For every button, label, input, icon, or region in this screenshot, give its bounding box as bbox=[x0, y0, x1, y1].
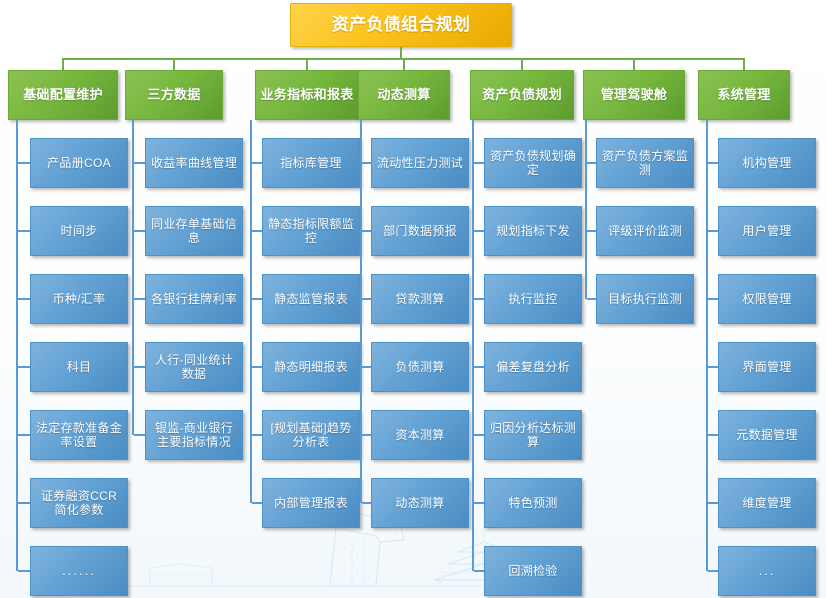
category-drop-connector-business-indicators-reports bbox=[306, 58, 308, 70]
leaf-connector-dynamic-measurement-5 bbox=[362, 502, 371, 504]
leaf-connector-system-management-3 bbox=[708, 366, 718, 368]
leaf-connector-third-party-data-2 bbox=[134, 298, 145, 300]
category-node-management-cockpit-label: 管理驾驶舱 bbox=[588, 87, 680, 102]
leaf-node-management-cockpit-2[interactable]: 目标执行监测 bbox=[596, 274, 694, 324]
leaf-node-base-config-maintenance-6-label: ...... bbox=[35, 563, 123, 578]
leaf-node-business-indicators-reports-5-label: 内部管理报表 bbox=[267, 496, 355, 510]
leaf-connector-dynamic-measurement-1 bbox=[362, 230, 371, 232]
leaf-node-system-management-4[interactable]: 元数据管理 bbox=[718, 410, 816, 460]
category-drop-connector-third-party-data bbox=[173, 58, 175, 70]
leaf-node-asset-liability-planning-0-label: 资产负债规划确定 bbox=[489, 149, 577, 177]
leaf-node-business-indicators-reports-0-label: 指标库管理 bbox=[267, 156, 355, 170]
leaf-node-system-management-5-label: 维度管理 bbox=[723, 496, 811, 510]
category-node-system-management-label: 系统管理 bbox=[703, 87, 785, 102]
leaf-connector-dynamic-measurement-0 bbox=[362, 162, 371, 164]
leaf-connector-asset-liability-planning-4 bbox=[474, 434, 484, 436]
leaf-node-system-management-2[interactable]: 权限管理 bbox=[718, 274, 816, 324]
leaf-node-third-party-data-2-label: 各银行挂牌利率 bbox=[150, 292, 238, 306]
leaf-node-asset-liability-planning-1[interactable]: 规划指标下发 bbox=[484, 206, 582, 256]
leaf-connector-system-management-1 bbox=[708, 230, 718, 232]
leaf-node-dynamic-measurement-3-label: 负债测算 bbox=[376, 360, 464, 374]
leaf-node-base-config-maintenance-2[interactable]: 币种/汇率 bbox=[30, 274, 128, 324]
leaf-node-base-config-maintenance-5[interactable]: 证券融资CCR简化参数 bbox=[30, 478, 128, 528]
category-node-business-indicators-reports-label: 业务指标和报表 bbox=[260, 87, 354, 102]
leaf-connector-asset-liability-planning-5 bbox=[474, 502, 484, 504]
leaf-node-asset-liability-planning-5-label: 特色预测 bbox=[489, 496, 577, 510]
leaf-connector-base-config-maintenance-5 bbox=[18, 502, 30, 504]
leaf-node-asset-liability-planning-5[interactable]: 特色预测 bbox=[484, 478, 582, 528]
leaf-node-third-party-data-2[interactable]: 各银行挂牌利率 bbox=[145, 274, 243, 324]
category-drop-connector-system-management bbox=[743, 58, 745, 70]
leaf-node-management-cockpit-1[interactable]: 评级评价监测 bbox=[596, 206, 694, 256]
leaf-node-dynamic-measurement-4-label: 资本测算 bbox=[376, 428, 464, 442]
leaf-node-base-config-maintenance-1[interactable]: 时间步 bbox=[30, 206, 128, 256]
leaf-node-asset-liability-planning-4[interactable]: 归因分析达标测算 bbox=[484, 410, 582, 460]
leaf-connector-asset-liability-planning-6 bbox=[474, 570, 484, 572]
category-node-management-cockpit[interactable]: 管理驾驶舱 bbox=[583, 70, 685, 120]
leaf-node-system-management-4-label: 元数据管理 bbox=[723, 428, 811, 442]
leaf-node-base-config-maintenance-0-label: 产品册COA bbox=[35, 156, 123, 170]
leaf-node-base-config-maintenance-1-label: 时间步 bbox=[35, 224, 123, 238]
leaf-connector-dynamic-measurement-2 bbox=[362, 298, 371, 300]
root-node-asset-liability-portfolio-planning[interactable]: 资产负债组合规划 bbox=[290, 3, 512, 47]
category-node-business-indicators-reports[interactable]: 业务指标和报表 bbox=[255, 70, 359, 120]
leaf-node-dynamic-measurement-2-label: 贷款测算 bbox=[376, 292, 464, 306]
leaf-node-business-indicators-reports-1[interactable]: 静态指标限额监控 bbox=[262, 206, 360, 256]
leaf-node-dynamic-measurement-5-label: 动态测算 bbox=[376, 496, 464, 510]
leaf-connector-management-cockpit-1 bbox=[587, 230, 596, 232]
leaf-node-business-indicators-reports-1-label: 静态指标限额监控 bbox=[267, 217, 355, 245]
leaf-node-system-management-3-label: 界面管理 bbox=[723, 360, 811, 374]
leaf-connector-asset-liability-planning-2 bbox=[474, 298, 484, 300]
leaf-node-system-management-6-label: ... bbox=[723, 563, 811, 578]
leaf-node-base-config-maintenance-3-label: 科目 bbox=[35, 360, 123, 374]
leaf-node-dynamic-measurement-3[interactable]: 负债测算 bbox=[371, 342, 469, 392]
leaf-node-system-management-0[interactable]: 机构管理 bbox=[718, 138, 816, 188]
leaf-connector-business-indicators-reports-2 bbox=[252, 298, 262, 300]
leaf-node-asset-liability-planning-3[interactable]: 偏差复盘分析 bbox=[484, 342, 582, 392]
leaf-node-third-party-data-3-label: 人行-同业统计数据 bbox=[150, 353, 238, 381]
leaf-node-business-indicators-reports-2-label: 静态监管报表 bbox=[267, 292, 355, 306]
leaf-connector-system-management-2 bbox=[708, 298, 718, 300]
leaf-node-business-indicators-reports-3-label: 静态明细报表 bbox=[267, 360, 355, 374]
category-node-base-config-maintenance[interactable]: 基础配置维护 bbox=[8, 70, 118, 120]
category-node-base-config-maintenance-label: 基础配置维护 bbox=[13, 87, 113, 102]
leaf-node-base-config-maintenance-5-label: 证券融资CCR简化参数 bbox=[35, 489, 123, 517]
leaf-node-third-party-data-1-label: 同业存单基础信息 bbox=[150, 217, 238, 245]
spine-connector-third-party-data bbox=[132, 120, 134, 435]
leaf-node-business-indicators-reports-5[interactable]: 内部管理报表 bbox=[262, 478, 360, 528]
leaf-node-asset-liability-planning-4-label: 归因分析达标测算 bbox=[489, 421, 577, 449]
leaf-node-business-indicators-reports-4[interactable]: [规划基础]趋势分析表 bbox=[262, 410, 360, 460]
leaf-node-base-config-maintenance-4-label: 法定存款准备金率设置 bbox=[35, 421, 123, 449]
leaf-connector-system-management-6 bbox=[708, 570, 718, 572]
leaf-connector-third-party-data-3 bbox=[134, 366, 145, 368]
leaf-connector-dynamic-measurement-3 bbox=[362, 366, 371, 368]
leaf-connector-third-party-data-4 bbox=[134, 434, 145, 436]
leaf-node-base-config-maintenance-6[interactable]: ...... bbox=[30, 546, 128, 596]
root-drop-connector bbox=[400, 47, 402, 58]
leaf-node-third-party-data-3[interactable]: 人行-同业统计数据 bbox=[145, 342, 243, 392]
leaf-node-system-management-3[interactable]: 界面管理 bbox=[718, 342, 816, 392]
leaf-node-base-config-maintenance-0[interactable]: 产品册COA bbox=[30, 138, 128, 188]
leaf-connector-dynamic-measurement-4 bbox=[362, 434, 371, 436]
leaf-connector-base-config-maintenance-6 bbox=[18, 570, 30, 572]
diagram-canvas: 资产负债组合规划基础配置维护产品册COA时间步币种/汇率科目法定存款准备金率设置… bbox=[0, 0, 826, 598]
leaf-node-management-cockpit-2-label: 目标执行监测 bbox=[601, 292, 689, 306]
leaf-node-asset-liability-planning-3-label: 偏差复盘分析 bbox=[489, 360, 577, 374]
category-drop-connector-asset-liability-planning bbox=[521, 58, 523, 70]
leaf-node-business-indicators-reports-2[interactable]: 静态监管报表 bbox=[262, 274, 360, 324]
category-node-third-party-data[interactable]: 三方数据 bbox=[125, 70, 223, 120]
leaf-node-business-indicators-reports-4-label: [规划基础]趋势分析表 bbox=[267, 421, 355, 449]
leaf-node-dynamic-measurement-2[interactable]: 贷款测算 bbox=[371, 274, 469, 324]
leaf-node-system-management-0-label: 机构管理 bbox=[723, 156, 811, 170]
leaf-node-base-config-maintenance-3[interactable]: 科目 bbox=[30, 342, 128, 392]
leaf-connector-asset-liability-planning-0 bbox=[474, 162, 484, 164]
leaf-connector-business-indicators-reports-0 bbox=[252, 162, 262, 164]
leaf-connector-base-config-maintenance-1 bbox=[18, 230, 30, 232]
leaf-node-system-management-2-label: 权限管理 bbox=[723, 292, 811, 306]
category-node-dynamic-measurement[interactable]: 动态测算 bbox=[358, 70, 450, 120]
leaf-node-dynamic-measurement-1-label: 部门数据预报 bbox=[376, 224, 464, 238]
leaf-connector-business-indicators-reports-3 bbox=[252, 366, 262, 368]
leaf-connector-system-management-4 bbox=[708, 434, 718, 436]
leaf-node-management-cockpit-0[interactable]: 资产负债方案监测 bbox=[596, 138, 694, 188]
leaf-node-system-management-1-label: 用户管理 bbox=[723, 224, 811, 238]
leaf-connector-base-config-maintenance-3 bbox=[18, 366, 30, 368]
leaf-node-third-party-data-4[interactable]: 银监-商业银行主要指标情况 bbox=[145, 410, 243, 460]
leaf-connector-asset-liability-planning-1 bbox=[474, 230, 484, 232]
leaf-node-dynamic-measurement-0[interactable]: 流动性压力测试 bbox=[371, 138, 469, 188]
leaf-connector-base-config-maintenance-2 bbox=[18, 298, 30, 300]
leaf-node-third-party-data-4-label: 银监-商业银行主要指标情况 bbox=[150, 421, 238, 449]
leaf-connector-management-cockpit-2 bbox=[587, 298, 596, 300]
root-node-asset-liability-portfolio-planning-label: 资产负债组合规划 bbox=[295, 15, 507, 35]
leaf-node-third-party-data-0-label: 收益率曲线管理 bbox=[150, 156, 238, 170]
leaf-connector-asset-liability-planning-3 bbox=[474, 366, 484, 368]
leaf-node-management-cockpit-1-label: 评级评价监测 bbox=[601, 224, 689, 238]
leaf-node-asset-liability-planning-6-label: 回溯检验 bbox=[489, 564, 577, 578]
leaf-node-system-management-1[interactable]: 用户管理 bbox=[718, 206, 816, 256]
leaf-node-dynamic-measurement-0-label: 流动性压力测试 bbox=[376, 156, 464, 170]
spine-connector-dynamic-measurement bbox=[360, 120, 362, 503]
leaf-connector-third-party-data-0 bbox=[134, 162, 145, 164]
leaf-connector-business-indicators-reports-4 bbox=[252, 434, 262, 436]
spine-connector-business-indicators-reports bbox=[250, 120, 252, 503]
leaf-node-business-indicators-reports-0[interactable]: 指标库管理 bbox=[262, 138, 360, 188]
category-drop-connector-dynamic-measurement bbox=[403, 58, 405, 70]
category-drop-connector-base-config-maintenance bbox=[62, 58, 64, 70]
category-node-asset-liability-planning[interactable]: 资产负债规划 bbox=[470, 70, 574, 120]
leaf-connector-business-indicators-reports-1 bbox=[252, 230, 262, 232]
leaf-connector-management-cockpit-0 bbox=[587, 162, 596, 164]
leaf-connector-base-config-maintenance-4 bbox=[18, 434, 30, 436]
category-drop-connector-management-cockpit bbox=[633, 58, 635, 70]
leaf-node-dynamic-measurement-4[interactable]: 资本测算 bbox=[371, 410, 469, 460]
category-node-dynamic-measurement-label: 动态测算 bbox=[363, 87, 445, 102]
leaf-node-business-indicators-reports-3[interactable]: 静态明细报表 bbox=[262, 342, 360, 392]
leaf-node-system-management-6[interactable]: ... bbox=[718, 546, 816, 596]
leaf-node-asset-liability-planning-2-label: 执行监控 bbox=[489, 292, 577, 306]
leaf-node-asset-liability-planning-1-label: 规划指标下发 bbox=[489, 224, 577, 238]
leaf-connector-business-indicators-reports-5 bbox=[252, 502, 262, 504]
spine-connector-management-cockpit bbox=[585, 120, 587, 299]
leaf-node-third-party-data-0[interactable]: 收益率曲线管理 bbox=[145, 138, 243, 188]
leaf-connector-base-config-maintenance-0 bbox=[18, 162, 30, 164]
leaf-node-asset-liability-planning-6[interactable]: 回溯检验 bbox=[484, 546, 582, 596]
leaf-connector-third-party-data-1 bbox=[134, 230, 145, 232]
leaf-connector-system-management-0 bbox=[708, 162, 718, 164]
leaf-node-asset-liability-planning-0[interactable]: 资产负债规划确定 bbox=[484, 138, 582, 188]
leaf-node-system-management-5[interactable]: 维度管理 bbox=[718, 478, 816, 528]
leaf-node-base-config-maintenance-4[interactable]: 法定存款准备金率设置 bbox=[30, 410, 128, 460]
category-node-third-party-data-label: 三方数据 bbox=[130, 87, 218, 102]
category-node-asset-liability-planning-label: 资产负债规划 bbox=[475, 87, 569, 102]
leaf-node-third-party-data-1[interactable]: 同业存单基础信息 bbox=[145, 206, 243, 256]
leaf-node-management-cockpit-0-label: 资产负债方案监测 bbox=[601, 149, 689, 177]
leaf-node-base-config-maintenance-2-label: 币种/汇率 bbox=[35, 292, 123, 306]
category-node-system-management[interactable]: 系统管理 bbox=[698, 70, 790, 120]
leaf-connector-system-management-5 bbox=[708, 502, 718, 504]
leaf-node-asset-liability-planning-2[interactable]: 执行监控 bbox=[484, 274, 582, 324]
leaf-node-dynamic-measurement-5[interactable]: 动态测算 bbox=[371, 478, 469, 528]
leaf-node-dynamic-measurement-1[interactable]: 部门数据预报 bbox=[371, 206, 469, 256]
